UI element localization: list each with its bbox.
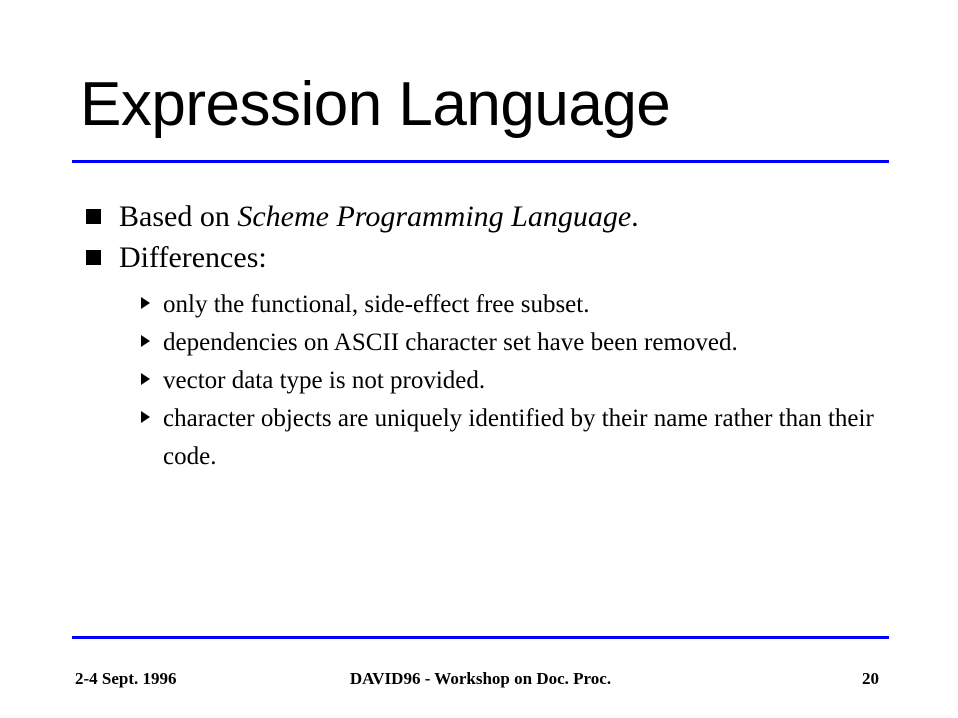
bullet-item-differences: Differences:: [0, 237, 958, 278]
footer-event-title: DAVID96 - Workshop on Doc. Proc.: [72, 666, 889, 692]
sub-bullet-text: vector data type is not provided.: [163, 362, 900, 400]
title-divider-rule: [72, 160, 889, 163]
sub-bullet-text: dependencies on ASCII character set have…: [163, 324, 900, 362]
sub-bullet-item: character objects are uniquely identifie…: [0, 400, 958, 476]
square-bullet-icon: [86, 209, 101, 224]
sub-bullet-text: only the functional, side-effect free su…: [163, 286, 900, 324]
slide-canvas: Expression Language Based on Scheme Prog…: [0, 0, 958, 718]
sub-bullet-item: vector data type is not provided.: [0, 362, 958, 400]
sub-bullet-item: only the functional, side-effect free su…: [0, 286, 958, 324]
triangle-right-bullet-icon: [141, 297, 150, 309]
sub-bullet-list: only the functional, side-effect free su…: [0, 286, 958, 476]
square-bullet-icon: [86, 250, 101, 265]
footer-page-number: 20: [862, 666, 879, 692]
slide-body: Based on Scheme Programming Language. Di…: [0, 196, 958, 476]
bullet-text-suffix: .: [631, 200, 639, 233]
sub-bullet-text: character objects are uniquely identifie…: [163, 400, 900, 476]
slide-footer: 2-4 Sept. 1996 DAVID96 - Workshop on Doc…: [72, 666, 889, 692]
bullet-text: Based on Scheme Programming Language.: [119, 196, 958, 237]
triangle-right-bullet-icon: [141, 373, 150, 385]
sub-bullet-item: dependencies on ASCII character set have…: [0, 324, 958, 362]
footer-divider-rule: [72, 636, 889, 639]
bullet-item-based-on: Based on Scheme Programming Language.: [0, 196, 958, 237]
bullet-text: Differences:: [119, 237, 958, 278]
bullet-text-prefix: Based on: [119, 200, 237, 233]
bullet-text-emphasis: Scheme Programming Language: [237, 200, 631, 233]
triangle-right-bullet-icon: [141, 335, 150, 347]
page-title: Expression Language: [80, 70, 900, 140]
triangle-right-bullet-icon: [141, 411, 150, 423]
